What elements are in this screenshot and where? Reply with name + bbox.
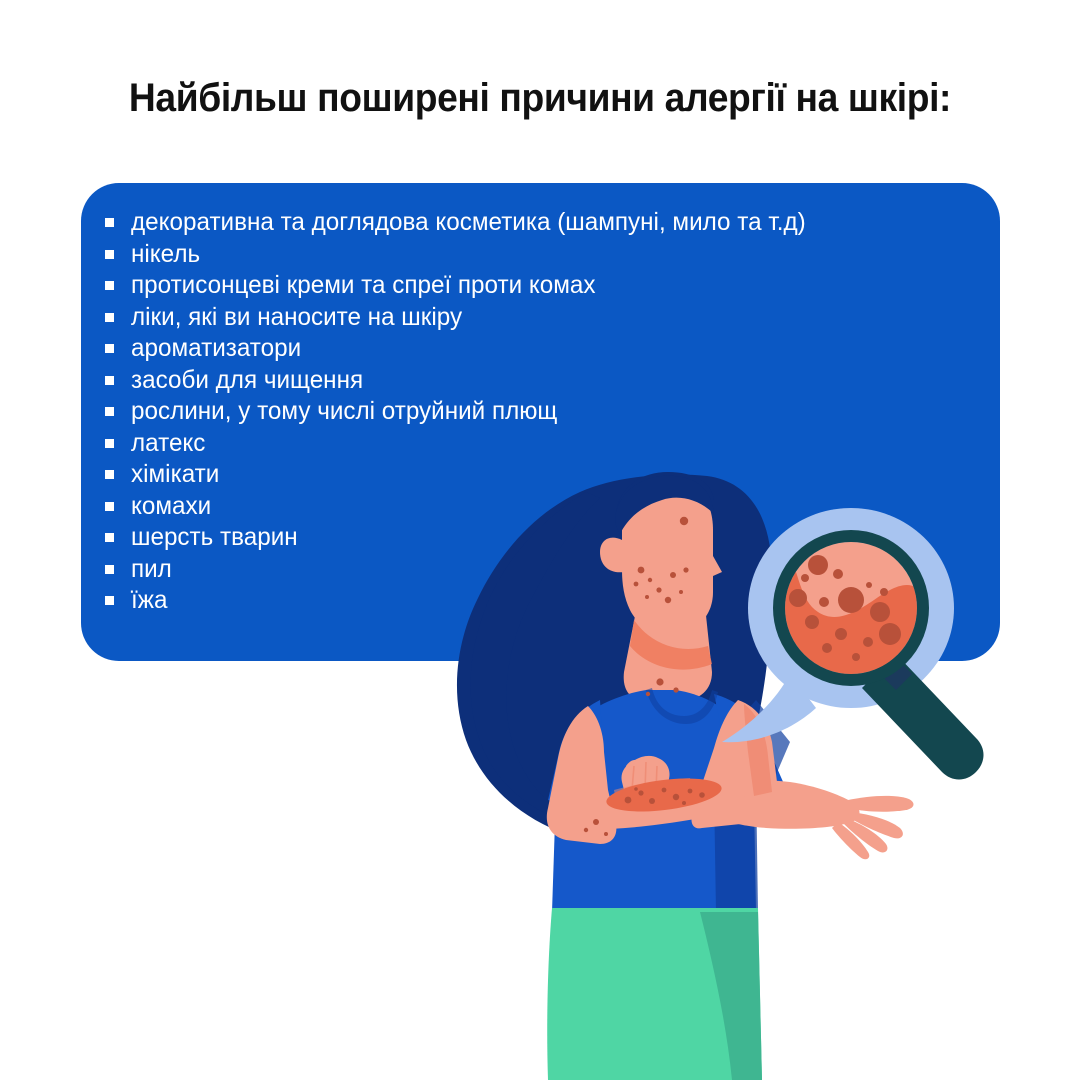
square-bullet-icon	[105, 439, 114, 448]
cause-label: латекс	[131, 428, 205, 460]
cause-list-item: засоби для чищення	[105, 365, 827, 397]
cause-label: ароматизатори	[131, 333, 301, 365]
cause-list-item: ароматизатори	[105, 333, 827, 365]
square-bullet-icon	[105, 376, 114, 385]
cause-list-item: шерсть тварин	[105, 522, 827, 554]
cause-label: ліки, які ви наносите на шкіру	[131, 302, 462, 334]
cause-list-item: ліки, які ви наносите на шкіру	[105, 302, 827, 334]
cause-list-item: пил	[105, 554, 827, 586]
cause-label: їжа	[131, 585, 167, 617]
cause-list-item: нікель	[105, 239, 827, 271]
cause-list-item: декоративна та доглядова косметика (шамп…	[105, 207, 827, 239]
t-shirt	[548, 688, 790, 912]
cause-label: рослини, у тому числі отруйний плющ	[131, 396, 557, 428]
right-arm-extended	[691, 700, 913, 859]
square-bullet-icon	[105, 596, 114, 605]
cause-label: протисонцеві креми та спреї проти комах	[131, 270, 596, 302]
cause-label: пил	[131, 554, 172, 586]
cause-list-item: протисонцеві креми та спреї проти комах	[105, 270, 827, 302]
infographic-canvas: Найбільш поширені причини алергії на шкі…	[0, 0, 1080, 1080]
causes-card: декоративна та доглядова косметика (шамп…	[81, 183, 1000, 661]
cause-label: шерсть тварин	[131, 522, 298, 554]
page-title: Найбільш поширені причини алергії на шкі…	[38, 74, 1042, 122]
cause-list-item: рослини, у тому числі отруйний плющ	[105, 396, 827, 428]
cause-label: нікель	[131, 239, 200, 271]
cause-label: комахи	[131, 491, 211, 523]
cause-label: декоративна та доглядова косметика (шамп…	[131, 207, 806, 239]
cause-label: хімікати	[131, 459, 219, 491]
skin-spots-body	[584, 678, 679, 836]
square-bullet-icon	[105, 502, 114, 511]
square-bullet-icon	[105, 281, 114, 290]
square-bullet-icon	[105, 313, 114, 322]
square-bullet-icon	[105, 533, 114, 542]
cause-list-item: латекс	[105, 428, 827, 460]
square-bullet-icon	[105, 218, 114, 227]
rash-patch	[605, 773, 724, 817]
square-bullet-icon	[105, 470, 114, 479]
cause-label: засоби для чищення	[131, 365, 363, 397]
square-bullet-icon	[105, 250, 114, 259]
square-bullet-icon	[105, 565, 114, 574]
cause-list-item: комахи	[105, 491, 827, 523]
left-arm-scratching	[547, 706, 747, 844]
cause-list-item: хімікати	[105, 459, 827, 491]
skirt	[547, 908, 762, 1080]
square-bullet-icon	[105, 407, 114, 416]
causes-list: декоративна та доглядова косметика (шамп…	[105, 207, 827, 617]
cause-list-item: їжа	[105, 585, 827, 617]
square-bullet-icon	[105, 344, 114, 353]
